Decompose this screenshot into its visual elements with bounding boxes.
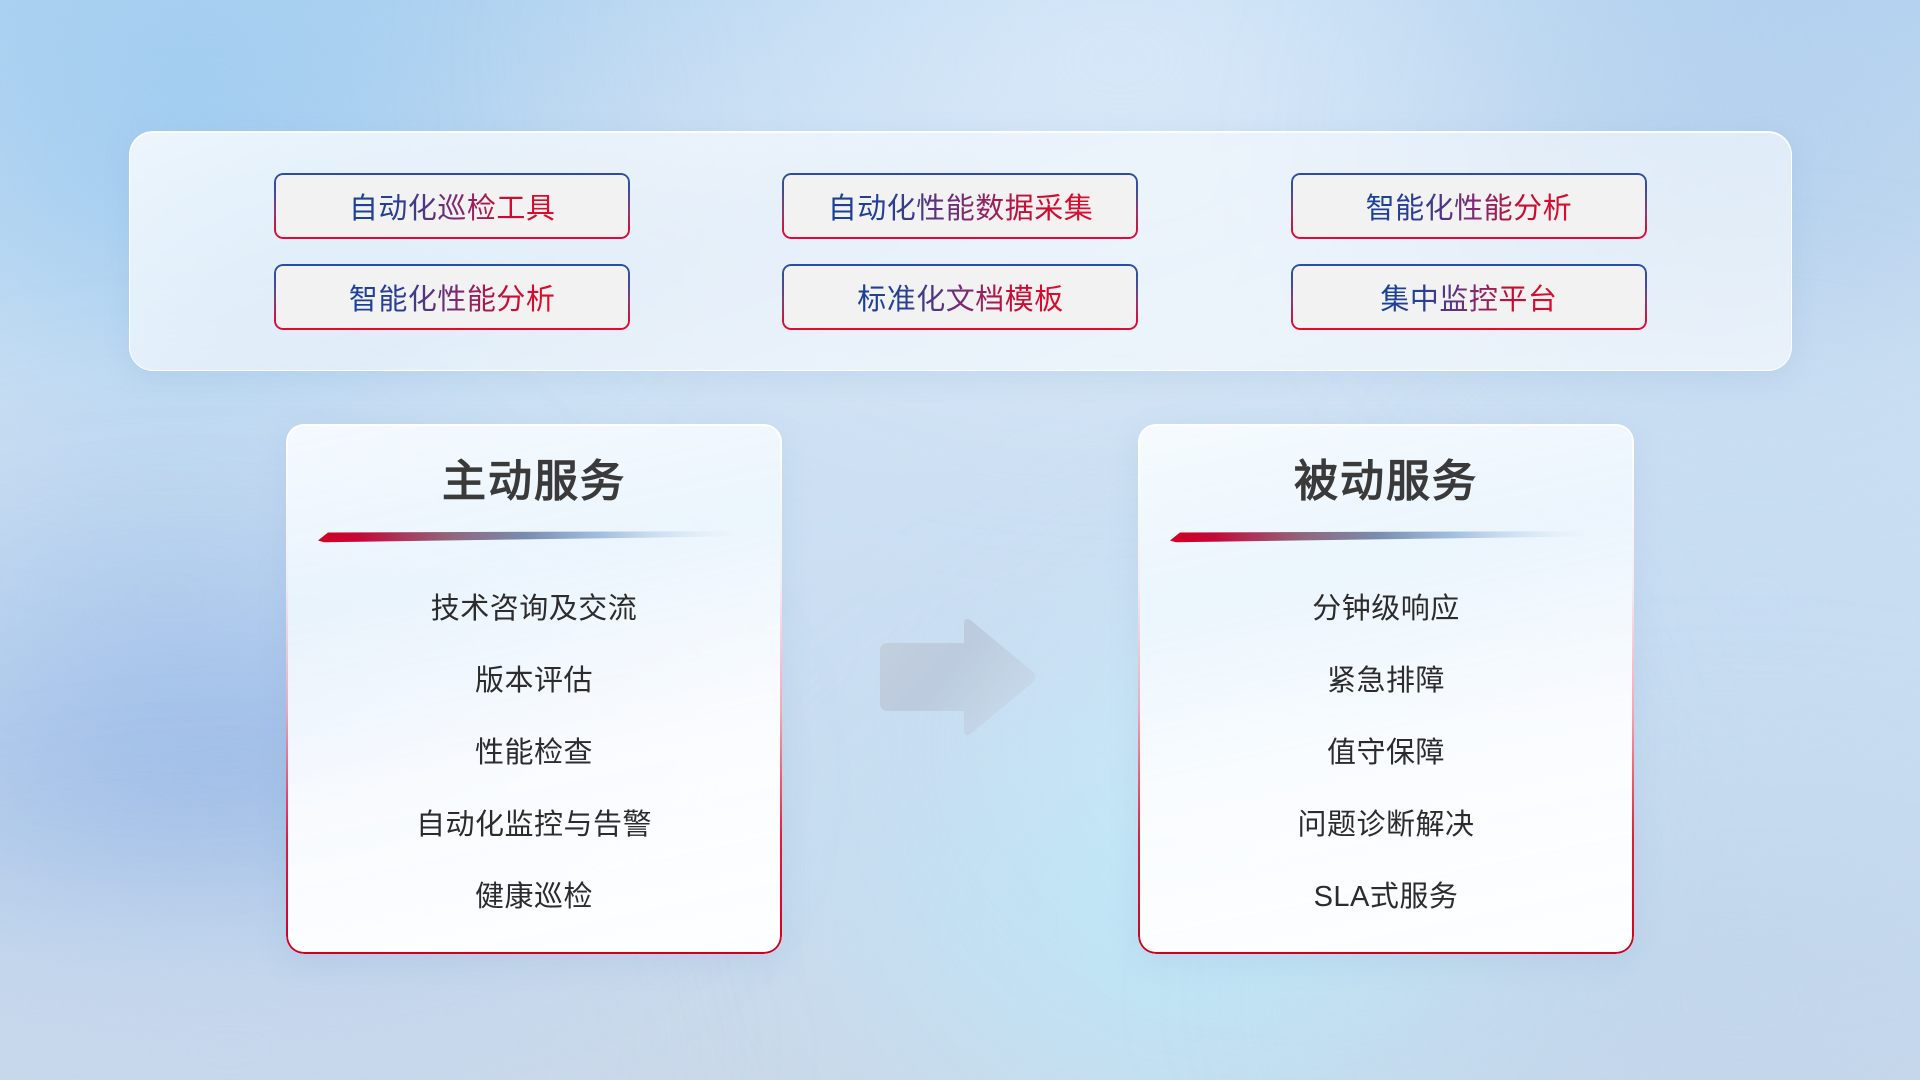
service-list-item: 健康巡检 — [475, 861, 593, 933]
service-card-title: 被动服务 — [1294, 456, 1478, 509]
service-list-item: 紧急排障 — [1327, 645, 1445, 717]
service-list-item: 性能检查 — [475, 717, 593, 789]
service-card-proactive: 主动服务 — [286, 424, 782, 954]
service-list-item: 技术咨询及交流 — [431, 573, 638, 645]
service-card-list: 分钟级响应 紧急排障 值守保障 问题诊断解决 SLA式服务 — [1138, 573, 1634, 933]
capability-pill-grid: 自动化巡检工具 自动化性能数据采集 智能化性能分析 智能化性能分析 标准化文档模… — [130, 173, 1791, 330]
service-list-item: 值守保障 — [1327, 717, 1445, 789]
service-list-item: 自动化监控与告警 — [416, 789, 652, 861]
capability-pill[interactable]: 智能化性能分析 — [274, 264, 630, 330]
card-title-divider — [318, 529, 750, 543]
capability-pill-label: 自动化性能数据采集 — [828, 185, 1094, 227]
capability-pill[interactable]: 自动化巡检工具 — [274, 173, 630, 239]
capability-pill-label: 自动化巡检工具 — [349, 185, 556, 227]
slide-canvas: 自动化巡检工具 自动化性能数据采集 智能化性能分析 智能化性能分析 标准化文档模… — [0, 0, 1920, 1080]
capability-pill-label: 集中监控平台 — [1380, 276, 1557, 318]
service-card-reactive: 被动服务 — [1138, 424, 1634, 954]
service-card-list: 技术咨询及交流 版本评估 性能检查 自动化监控与告警 健康巡检 — [286, 573, 782, 933]
service-list-item: SLA式服务 — [1314, 861, 1459, 933]
capability-pill[interactable]: 智能化性能分析 — [1291, 173, 1647, 239]
service-card-title: 主动服务 — [442, 456, 626, 509]
capability-pill-label: 标准化文档模板 — [857, 276, 1064, 318]
arrow-right-icon — [872, 615, 1038, 739]
capability-pill[interactable]: 自动化性能数据采集 — [782, 173, 1138, 239]
capability-pill[interactable]: 集中监控平台 — [1291, 264, 1647, 330]
capability-pill[interactable]: 标准化文档模板 — [782, 264, 1138, 330]
service-list-item: 问题诊断解决 — [1297, 789, 1474, 861]
service-list-item: 分钟级响应 — [1312, 573, 1460, 645]
service-list-item: 版本评估 — [475, 645, 593, 717]
card-title-divider — [1170, 529, 1602, 543]
capability-pill-label: 智能化性能分析 — [349, 276, 556, 318]
capability-panel: 自动化巡检工具 自动化性能数据采集 智能化性能分析 智能化性能分析 标准化文档模… — [129, 131, 1792, 371]
capability-pill-label: 智能化性能分析 — [1366, 185, 1573, 227]
